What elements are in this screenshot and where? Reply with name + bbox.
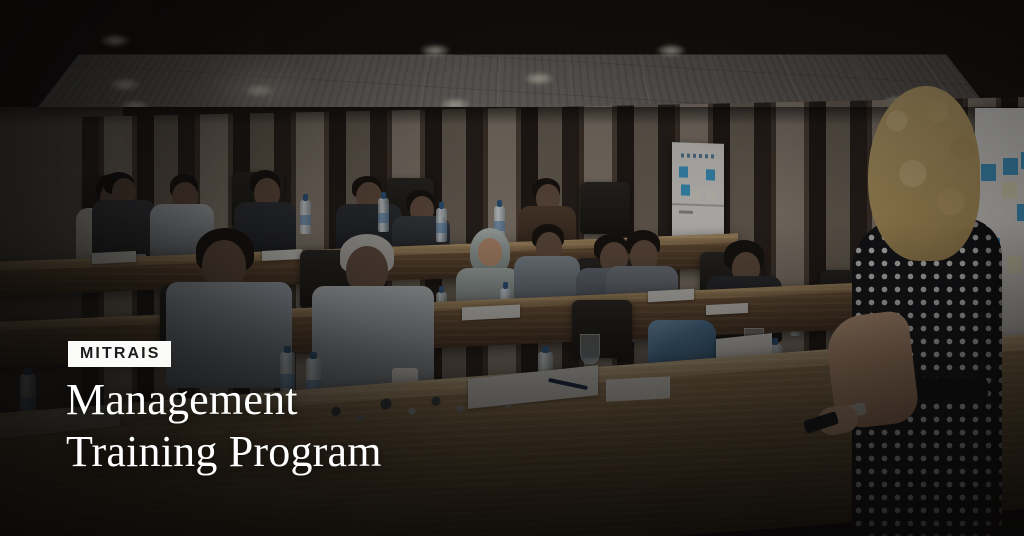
banner-text-overlay: MITRAIS Management Training Program (0, 0, 1024, 536)
banner-headline: Management Training Program (66, 374, 382, 478)
promo-banner: MITRAIS Management Training Program (0, 0, 1024, 536)
mitrais-logo-badge: MITRAIS (68, 341, 171, 367)
